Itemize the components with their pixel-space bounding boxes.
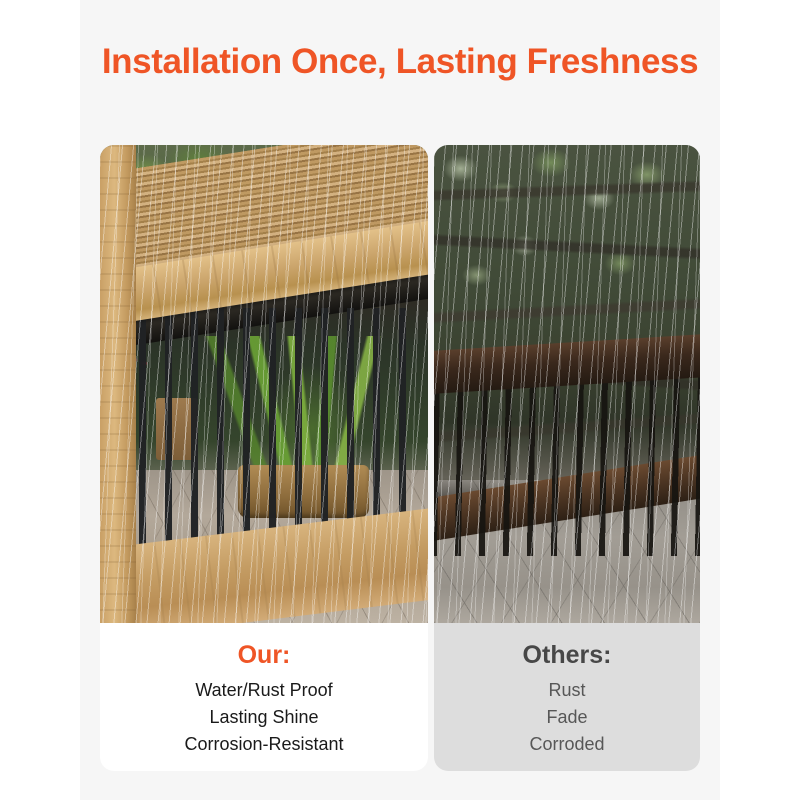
others-drawback-line: Fade: [434, 704, 700, 731]
others-drawback-line: Corroded: [434, 731, 700, 758]
rain-streaks-secondary: [434, 145, 700, 623]
page-title: Installation Once, Lasting Freshness: [100, 40, 700, 84]
comparison-row: Our: Water/Rust Proof Lasting Shine Corr…: [100, 145, 700, 771]
our-product-photo: [100, 145, 428, 623]
others-comparison-card: Others: Rust Fade Corroded: [434, 145, 700, 771]
others-caption: Others: Rust Fade Corroded: [434, 623, 700, 771]
others-caption-title: Others:: [434, 639, 700, 671]
rain-streaks-secondary: [100, 145, 428, 623]
our-benefit-line: Lasting Shine: [100, 704, 428, 731]
others-drawback-line: Rust: [434, 677, 700, 704]
our-comparison-card: Our: Water/Rust Proof Lasting Shine Corr…: [100, 145, 428, 771]
others-product-photo: [434, 145, 700, 623]
our-caption: Our: Water/Rust Proof Lasting Shine Corr…: [100, 623, 428, 771]
our-benefit-line: Corrosion-Resistant: [100, 731, 428, 758]
marketing-comparison-page: Installation Once, Lasting Freshness: [0, 0, 800, 800]
our-caption-title: Our:: [100, 639, 428, 671]
our-benefit-line: Water/Rust Proof: [100, 677, 428, 704]
